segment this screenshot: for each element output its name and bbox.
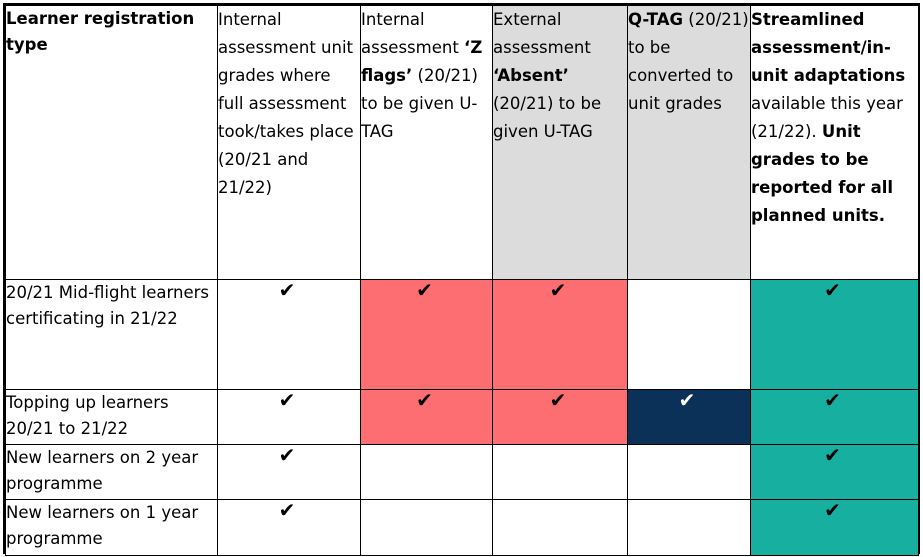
check-icon: ✔ (824, 500, 841, 520)
cell-r2-c2 (493, 445, 628, 500)
cell-r3-c1 (361, 500, 493, 556)
column-header-internal-assessment-unit-grades: Internal assessment unit grades where fu… (218, 6, 361, 280)
column-header-label: Internal assessment unit grades where fu… (218, 10, 354, 197)
table-header-row: Learner registration type Internal asses… (6, 6, 919, 280)
check-icon: ✔ (824, 280, 841, 300)
cell-r1-c0: ✔ (218, 390, 361, 445)
column-header-internal-assessment-z-flags: Internal assessment ‘Z flags’ (20/21) to… (361, 6, 493, 280)
cell-r3-c4: ✔ (751, 500, 919, 556)
cell-r1-c1: ✔ (361, 390, 493, 445)
row-label-text: 20/21 Mid-flight learners certificating … (6, 283, 209, 328)
table-row: 20/21 Mid-flight learners certificating … (6, 280, 919, 390)
check-icon: ✔ (279, 445, 296, 465)
table-row: Topping up learners 20/21 to 21/22 ✔ ✔ ✔… (6, 390, 919, 445)
cell-r0-c1: ✔ (361, 280, 493, 390)
cell-r1-c2: ✔ (493, 390, 628, 445)
row-label-text: New learners on 2 year programme (6, 448, 198, 493)
cell-r0-c4: ✔ (751, 280, 919, 390)
column-header-label: Learner registration type (6, 9, 194, 54)
check-icon: ✔ (416, 390, 433, 410)
row-label-topping-up-learners: Topping up learners 20/21 to 21/22 (6, 390, 218, 445)
cell-r0-c3 (628, 280, 751, 390)
cell-r3-c0: ✔ (218, 500, 361, 556)
check-icon: ✔ (550, 390, 567, 410)
column-header-learner-registration-type: Learner registration type (6, 6, 218, 280)
cell-r0-c0: ✔ (218, 280, 361, 390)
check-icon: ✔ (679, 390, 696, 410)
check-icon: ✔ (279, 500, 296, 520)
table-row: New learners on 1 year programme ✔ ✔ (6, 500, 919, 556)
check-icon: ✔ (279, 390, 296, 410)
cell-r2-c1 (361, 445, 493, 500)
cell-r2-c4: ✔ (751, 445, 919, 500)
row-label-new-learners-2-year: New learners on 2 year programme (6, 445, 218, 500)
table-row: New learners on 2 year programme ✔ ✔ (6, 445, 919, 500)
row-label-new-learners-1-year: New learners on 1 year programme (6, 500, 218, 556)
row-label-mid-flight-learners: 20/21 Mid-flight learners certificating … (6, 280, 218, 390)
row-label-text: New learners on 1 year programme (6, 503, 198, 548)
cell-r2-c3 (628, 445, 751, 500)
column-header-label: External assessment ‘Absent’ (20/21) to … (493, 10, 601, 141)
check-icon: ✔ (416, 280, 433, 300)
row-label-text: Topping up learners 20/21 to 21/22 (6, 393, 169, 438)
column-header-label: Streamlined assessment/in-unit adaptatio… (751, 10, 905, 225)
matrix-table-container: Learner registration type Internal asses… (3, 3, 920, 554)
column-header-q-tag: Q-TAG (20/21) to be converted to unit gr… (628, 6, 751, 280)
cell-r2-c0: ✔ (218, 445, 361, 500)
cell-r3-c2 (493, 500, 628, 556)
column-header-label: Internal assessment ‘Z flags’ (20/21) to… (361, 10, 482, 141)
matrix-body: Learner registration type Internal asses… (6, 6, 919, 556)
cell-r3-c3 (628, 500, 751, 556)
column-header-label: Q-TAG (20/21) to be converted to unit gr… (628, 10, 749, 113)
check-icon: ✔ (824, 445, 841, 465)
cell-r1-c3: ✔ (628, 390, 751, 445)
cell-r1-c4: ✔ (751, 390, 919, 445)
column-header-streamlined-assessment-adaptations: Streamlined assessment/in-unit adaptatio… (751, 6, 919, 280)
check-icon: ✔ (550, 280, 567, 300)
cell-r0-c2: ✔ (493, 280, 628, 390)
learner-registration-matrix: Learner registration type Internal asses… (5, 5, 919, 556)
check-icon: ✔ (824, 390, 841, 410)
check-icon: ✔ (279, 280, 296, 300)
column-header-external-assessment-absent: External assessment ‘Absent’ (20/21) to … (493, 6, 628, 280)
